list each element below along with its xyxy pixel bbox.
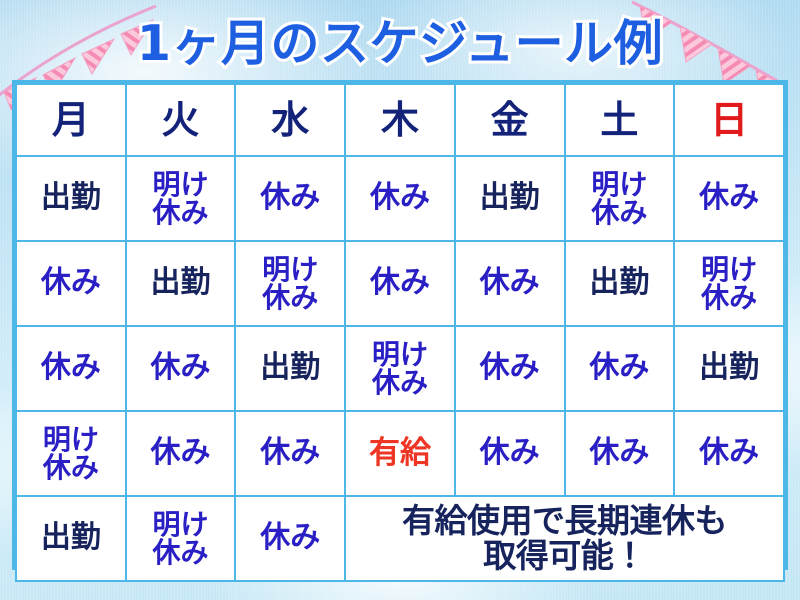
schedule-cell-label: 出勤 bbox=[151, 268, 211, 299]
schedule-cell-label: 休み bbox=[480, 438, 540, 469]
schedule-cell-label: 明け 休み bbox=[701, 256, 757, 312]
schedule-cell-label: 明け 休み bbox=[43, 426, 99, 482]
schedule-cell-label: 休み bbox=[151, 353, 211, 384]
schedule-cell-label: 有給 bbox=[369, 438, 431, 470]
schedule-cell-off[interactable]: 休み bbox=[16, 326, 126, 411]
schedule-cell-off[interactable]: 休み bbox=[345, 241, 455, 326]
table-row: 休み出勤明け 休み休み休み出勤明け 休み bbox=[16, 241, 784, 326]
schedule-cell-work[interactable]: 出勤 bbox=[565, 241, 675, 326]
schedule-cell-off[interactable]: 休み bbox=[455, 411, 565, 496]
table-header-row: 月火水木金土日 bbox=[16, 84, 784, 156]
schedule-cell-label: 休み bbox=[589, 353, 649, 384]
schedule-cell-off[interactable]: 休み bbox=[565, 411, 675, 496]
schedule-cell-label: 出勤 bbox=[480, 183, 540, 214]
schedule-note-text: 有給使用で長期連休も 取得可能！ bbox=[402, 504, 727, 574]
day-header-label: 日 bbox=[710, 101, 748, 140]
day-header-cell-weekday-0: 月 bbox=[16, 84, 126, 156]
schedule-cell-off[interactable]: 休み bbox=[455, 241, 565, 326]
day-header-cell-weekday-1: 火 bbox=[126, 84, 236, 156]
schedule-cell-label: 出勤 bbox=[41, 183, 101, 214]
schedule-cell-label: 休み bbox=[480, 353, 540, 384]
schedule-cell-off[interactable]: 休み bbox=[235, 496, 345, 581]
schedule-cell-label: 休み bbox=[480, 268, 540, 299]
schedule-cell-off[interactable]: 休み bbox=[674, 411, 784, 496]
schedule-cell-label: 休み bbox=[41, 268, 101, 299]
schedule-cell-label: 明け 休み bbox=[153, 511, 209, 567]
schedule-cell-akeyasumi[interactable]: 明け 休み bbox=[674, 241, 784, 326]
schedule-cell-label: 明け 休み bbox=[262, 256, 318, 312]
schedule-cell-akeyasumi[interactable]: 明け 休み bbox=[235, 241, 345, 326]
day-header-label: 金 bbox=[491, 101, 529, 140]
schedule-cell-work[interactable]: 出勤 bbox=[455, 156, 565, 241]
day-header-label: 水 bbox=[271, 101, 309, 140]
schedule-cell-label: 休み bbox=[699, 438, 759, 469]
schedule-cell-akeyasumi[interactable]: 明け 休み bbox=[345, 326, 455, 411]
schedule-cell-off[interactable]: 休み bbox=[674, 156, 784, 241]
schedule-cell-akeyasumi[interactable]: 明け 休み bbox=[126, 496, 236, 581]
day-header-label: 火 bbox=[162, 101, 200, 140]
schedule-cell-label: 休み bbox=[589, 438, 649, 469]
schedule-cell-work[interactable]: 出勤 bbox=[16, 496, 126, 581]
schedule-cell-label: 休み bbox=[370, 268, 430, 299]
schedule-graphic: 1ヶ月のスケジュール例 月火水木金土日出勤明け 休み休み休み出勤明け 休み休み休… bbox=[0, 0, 800, 600]
day-header-cell-weekday-4: 金 bbox=[455, 84, 565, 156]
schedule-cell-label: 休み bbox=[41, 353, 101, 384]
day-header-label: 木 bbox=[381, 101, 419, 140]
schedule-cell-work[interactable]: 出勤 bbox=[16, 156, 126, 241]
schedule-cell-label: 休み bbox=[699, 183, 759, 214]
schedule-cell-off[interactable]: 休み bbox=[345, 156, 455, 241]
table-row: 明け 休み休み休み有給休み休み休み bbox=[16, 411, 784, 496]
schedule-cell-work[interactable]: 出勤 bbox=[235, 326, 345, 411]
day-header-cell-weekday-3: 木 bbox=[345, 84, 455, 156]
schedule-cell-label: 出勤 bbox=[260, 353, 320, 384]
schedule-cell-label: 出勤 bbox=[41, 523, 101, 554]
table-row: 出勤明け 休み休み休み出勤明け 休み休み bbox=[16, 156, 784, 241]
schedule-cell-paid[interactable]: 有給 bbox=[345, 411, 455, 496]
schedule-table-container: 月火水木金土日出勤明け 休み休み休み出勤明け 休み休み休み出勤明け 休み休み休み… bbox=[12, 80, 788, 570]
schedule-cell-label: 休み bbox=[260, 523, 320, 554]
schedule-cell-label: 明け 休み bbox=[591, 171, 647, 227]
table-row: 休み休み出勤明け 休み休み休み出勤 bbox=[16, 326, 784, 411]
schedule-cell-work[interactable]: 出勤 bbox=[126, 241, 236, 326]
schedule-cell-label: 休み bbox=[151, 438, 211, 469]
schedule-cell-label: 明け 休み bbox=[372, 341, 428, 397]
table-row: 出勤明け 休み休み有給使用で長期連休も 取得可能！ bbox=[16, 496, 784, 581]
schedule-cell-akeyasumi[interactable]: 明け 休み bbox=[565, 156, 675, 241]
schedule-cell-off[interactable]: 休み bbox=[126, 326, 236, 411]
schedule-cell-label: 出勤 bbox=[589, 268, 649, 299]
schedule-cell-off[interactable]: 休み bbox=[235, 411, 345, 496]
schedule-cell-off[interactable]: 休み bbox=[455, 326, 565, 411]
day-header-cell-sunday-6: 日 bbox=[674, 84, 784, 156]
schedule-cell-label: 休み bbox=[260, 438, 320, 469]
day-header-label: 土 bbox=[600, 101, 638, 140]
page-title: 1ヶ月のスケジュール例 bbox=[0, 5, 800, 73]
schedule-cell-off[interactable]: 休み bbox=[126, 411, 236, 496]
schedule-table: 月火水木金土日出勤明け 休み休み休み出勤明け 休み休み休み出勤明け 休み休み休み… bbox=[15, 83, 785, 582]
schedule-cell-label: 明け 休み bbox=[153, 171, 209, 227]
schedule-cell-off[interactable]: 休み bbox=[235, 156, 345, 241]
schedule-cell-label: 休み bbox=[260, 183, 320, 214]
schedule-note-cell[interactable]: 有給使用で長期連休も 取得可能！ bbox=[345, 496, 784, 581]
schedule-cell-label: 休み bbox=[370, 183, 430, 214]
schedule-cell-off[interactable]: 休み bbox=[565, 326, 675, 411]
schedule-cell-akeyasumi[interactable]: 明け 休み bbox=[16, 411, 126, 496]
schedule-cell-akeyasumi[interactable]: 明け 休み bbox=[126, 156, 236, 241]
day-header-cell-saturday-5: 土 bbox=[565, 84, 675, 156]
schedule-cell-label: 出勤 bbox=[699, 353, 759, 384]
schedule-cell-work[interactable]: 出勤 bbox=[674, 326, 784, 411]
schedule-cell-off[interactable]: 休み bbox=[16, 241, 126, 326]
day-header-cell-weekday-2: 水 bbox=[235, 84, 345, 156]
day-header-label: 月 bbox=[52, 101, 90, 140]
